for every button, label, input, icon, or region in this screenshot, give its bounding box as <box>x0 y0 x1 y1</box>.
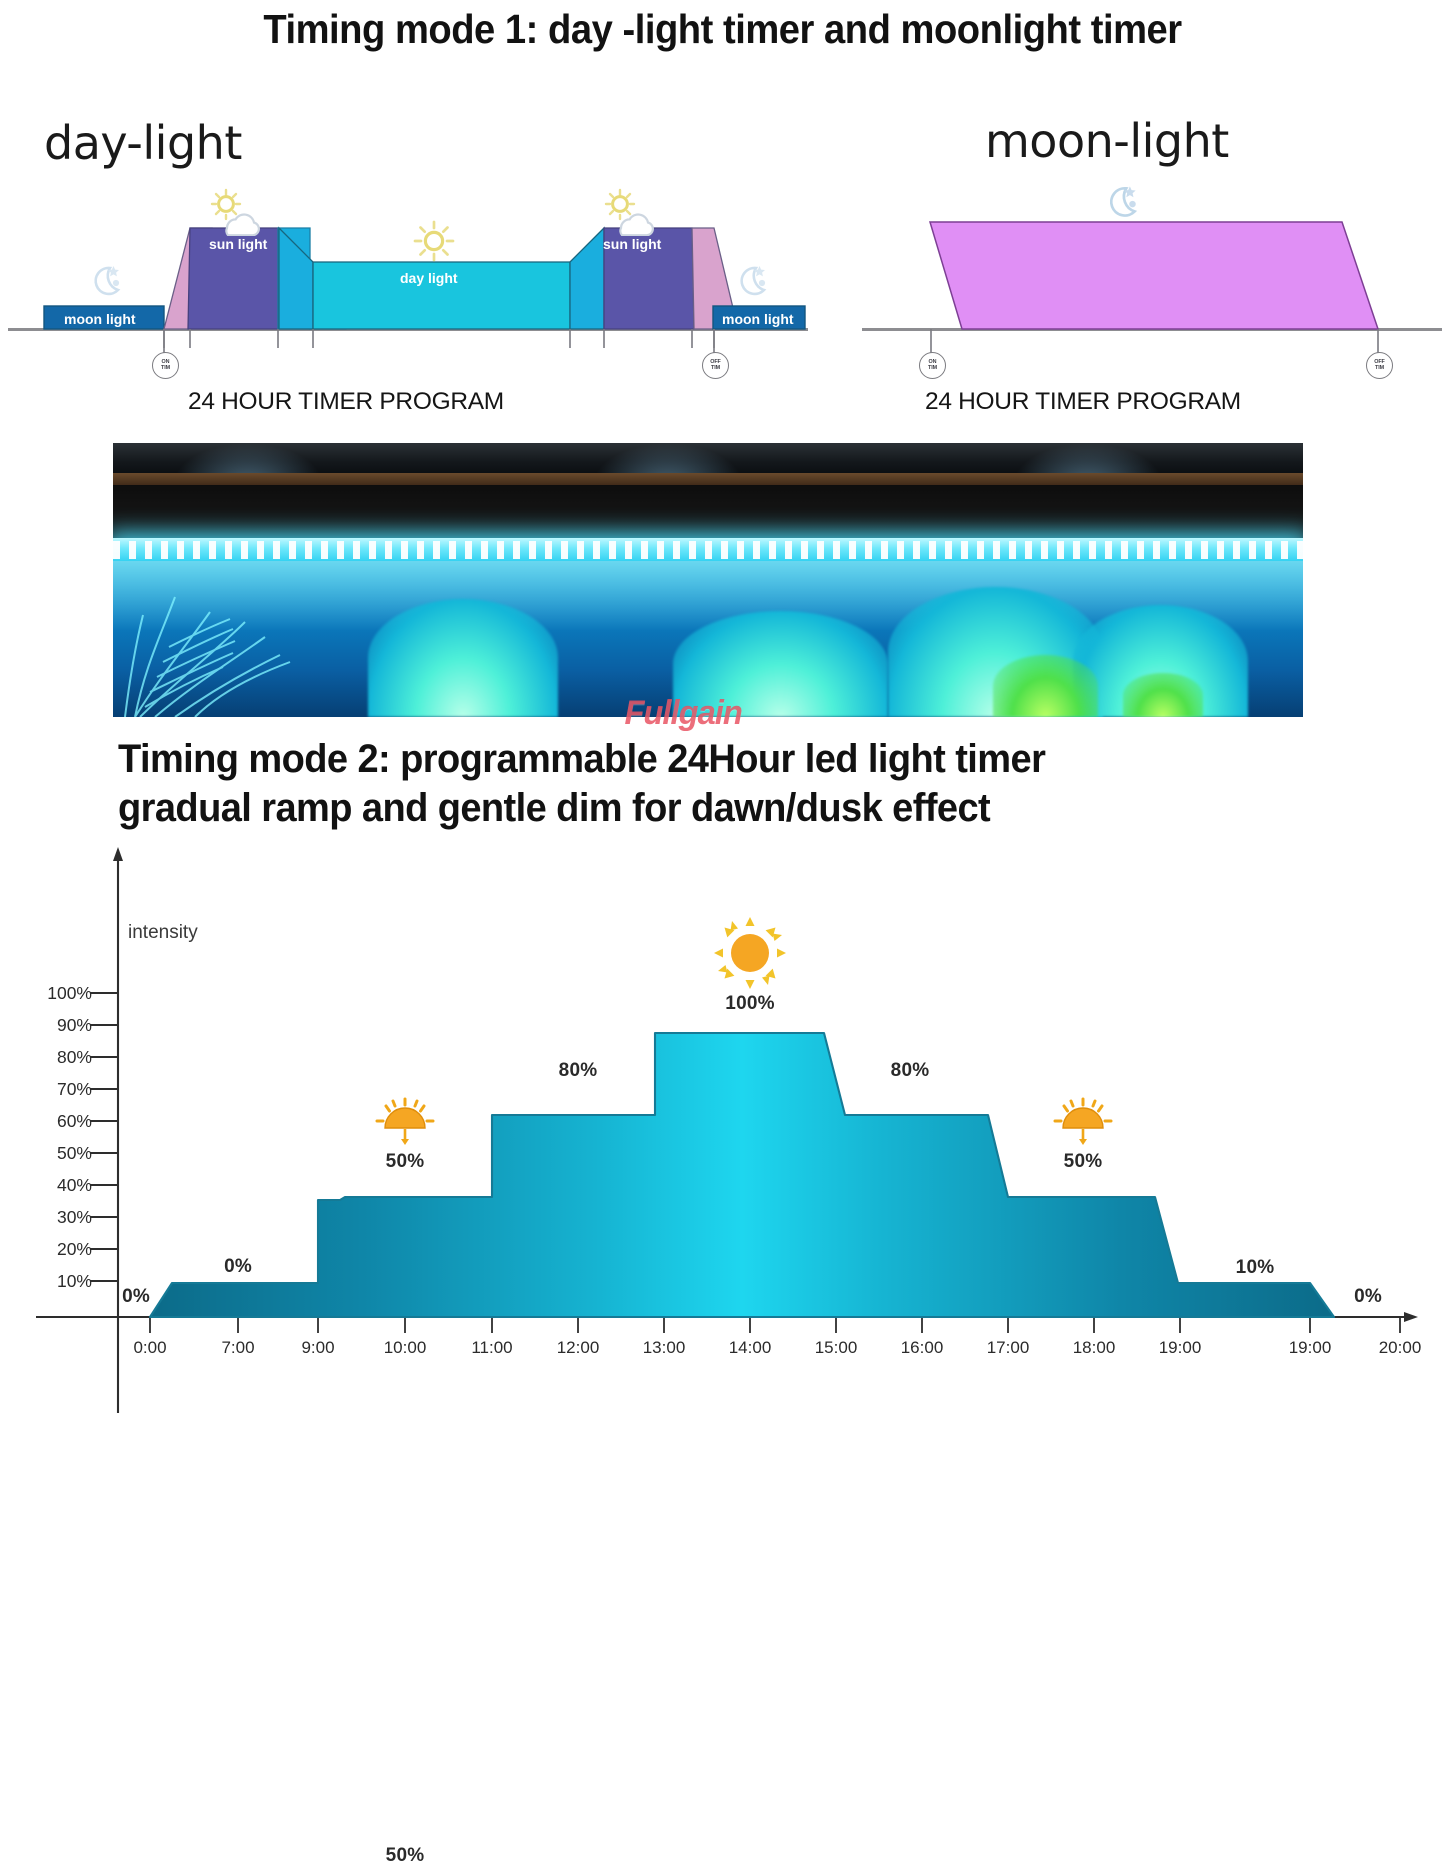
y-tick: 100% <box>47 983 92 1004</box>
x-tick: 13:00 <box>643 1338 686 1358</box>
x-tick: 9:00 <box>301 1338 334 1358</box>
mode2-title-line2: gradual ramp and gentle dim for dawn/dus… <box>118 784 1315 833</box>
x-tick: 16:00 <box>901 1338 944 1358</box>
data-label-80pct-am: 80% <box>559 1060 598 1082</box>
x-tick: 14:00 <box>729 1338 772 1358</box>
on-timer-marker-line2: TIM <box>161 366 170 371</box>
data-label-50pct-morning: 50% <box>386 1845 425 1867</box>
photo-dark-band <box>113 485 1303 540</box>
sunrise-icon <box>370 1097 440 1149</box>
data-label-80pct-pm: 80% <box>891 1060 930 1082</box>
data-label-end: 0% <box>1354 1286 1382 1308</box>
on-timer-marker-line2: TIM <box>928 366 937 371</box>
y-tick: 60% <box>57 1111 92 1132</box>
data-label-100pct: 100% <box>725 993 774 1015</box>
data-label-50pct-morning: 50% <box>386 1151 425 1173</box>
moon-stars-icon <box>83 260 127 302</box>
sun-behind-cloud-icon <box>207 188 267 236</box>
data-label-start: 0% <box>122 1286 150 1308</box>
off-timer-marker-right[interactable]: OFF TIM <box>1366 352 1393 379</box>
right-timer-caption: 24 HOUR TIMER PROGRAM <box>925 388 1241 416</box>
moon-stars-icon <box>729 260 773 302</box>
data-label-50pct-evening: 50% <box>1064 1151 1103 1173</box>
watermark: Fullgain <box>624 694 741 733</box>
y-tick: 70% <box>57 1079 92 1100</box>
sun-icon <box>712 915 788 991</box>
x-tick: 0:00 <box>133 1338 166 1358</box>
band-label-sun-light-right: sun light <box>603 236 661 252</box>
intensity-area-series <box>150 1033 1334 1317</box>
x-tick: 18:00 <box>1073 1338 1116 1358</box>
y-tick: 30% <box>57 1207 92 1228</box>
off-timer-marker-left[interactable]: OFF TIM <box>702 352 729 379</box>
x-tick: 15:00 <box>815 1338 858 1358</box>
y-tick: 40% <box>57 1175 92 1196</box>
y-tick: 50% <box>57 1143 92 1164</box>
coral-rock-icon <box>368 599 558 717</box>
moon-stars-icon <box>1098 180 1144 224</box>
green-coral-icon <box>993 655 1098 717</box>
x-tick: 19:00 <box>1289 1338 1332 1358</box>
mode2-title: Timing mode 2: programmable 24Hour led l… <box>118 735 1315 833</box>
x-tick: 12:00 <box>557 1338 600 1358</box>
left-timer-caption: 24 HOUR TIMER PROGRAM <box>188 388 504 416</box>
band-label-day-light: day light <box>400 270 458 286</box>
sun-icon <box>413 220 455 262</box>
band-label-moon-light-right: moon light <box>722 311 794 327</box>
x-tick: 10:00 <box>384 1338 427 1358</box>
off-timer-marker-line2: TIM <box>711 366 720 371</box>
led-chips <box>113 541 1303 559</box>
sunset-icon <box>1048 1097 1118 1149</box>
sea-fan-coral-icon <box>115 567 365 717</box>
mode1-panel: day-light moon-light <box>0 100 1445 430</box>
x-tick: 11:00 <box>471 1338 512 1358</box>
hood-reflection-icon <box>1013 443 1163 477</box>
data-label-0pct: 0% <box>224 1256 252 1278</box>
x-tick: 19:00 <box>1159 1338 1202 1358</box>
hood-reflection-icon <box>173 443 323 477</box>
x-tick: 20:00 <box>1379 1338 1422 1358</box>
mode1-title: Timing mode 1: day -light timer and moon… <box>51 6 1395 53</box>
intensity-timeline-chart: intensity <box>0 845 1445 1418</box>
data-label-10pct: 10% <box>1236 1257 1275 1279</box>
mode2-title-line1: Timing mode 2: programmable 24Hour led l… <box>118 735 1315 784</box>
band-label-sun-light-left: sun light <box>209 236 267 252</box>
aquarium-photo <box>113 443 1303 717</box>
y-tick: 90% <box>57 1015 92 1036</box>
hood-reflection-icon <box>593 443 743 477</box>
x-tick: 17:00 <box>987 1338 1030 1358</box>
on-timer-marker-left[interactable]: ON TIM <box>152 352 179 379</box>
y-tick: 10% <box>57 1271 92 1292</box>
x-tick: 7:00 <box>221 1338 254 1358</box>
off-timer-marker-line2: TIM <box>1375 366 1384 371</box>
band-label-moon-light-left: moon light <box>64 311 136 327</box>
sun-behind-cloud-icon <box>601 188 661 236</box>
y-tick: 20% <box>57 1239 92 1260</box>
day-light-profile-graph <box>0 100 1445 430</box>
on-timer-marker-right[interactable]: ON TIM <box>919 352 946 379</box>
y-tick: 80% <box>57 1047 92 1068</box>
green-coral-icon <box>1123 673 1203 717</box>
